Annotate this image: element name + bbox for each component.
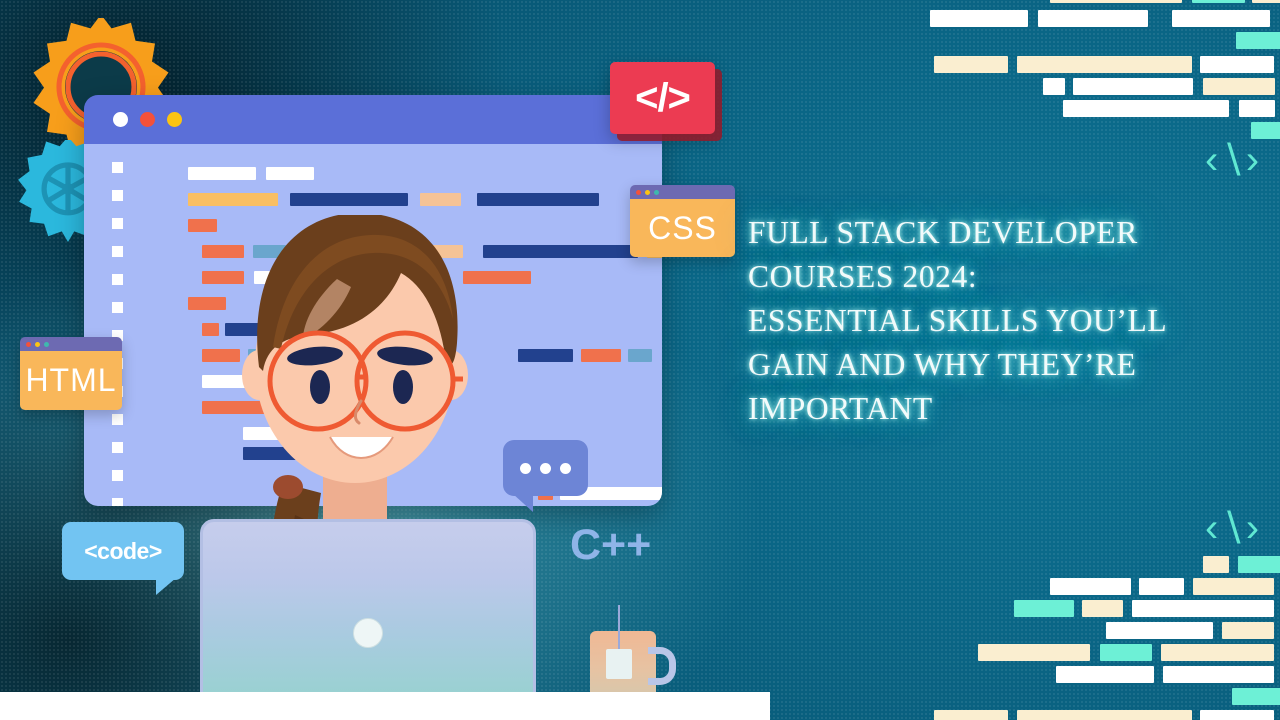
angle-bracket-icon-top: ‹∖› (1205, 140, 1260, 180)
page-title-line-3: Essential Skills You’ll (748, 299, 1264, 343)
badge-html[interactable]: HTML (20, 337, 122, 410)
decorative-code-bar (1063, 100, 1229, 117)
badge-css[interactable]: CSS (630, 185, 735, 257)
line-number-gutter (112, 162, 123, 506)
laptop-logo-icon (353, 618, 383, 648)
decorative-code-bar (1017, 710, 1192, 720)
line-number-mark (112, 274, 123, 285)
decorative-code-bar (1252, 0, 1280, 3)
decorative-code-bar (978, 644, 1090, 661)
laptop-lid (200, 519, 536, 707)
decorative-code-bar (1203, 556, 1229, 573)
typing-dot-3 (560, 463, 571, 474)
window-dot-red[interactable] (140, 112, 155, 127)
line-number-mark (112, 302, 123, 313)
badge-css-titlebar (630, 185, 735, 199)
line-number-mark (112, 442, 123, 453)
line-number-mark (112, 190, 123, 201)
decorative-code-bar (1056, 666, 1154, 683)
decorative-code-bar (1239, 100, 1275, 117)
line-number-mark (112, 218, 123, 229)
page-title-line-4: Gain and Why They’re (748, 343, 1264, 387)
decorative-code-bar (1100, 644, 1152, 661)
desk-surface (0, 692, 770, 720)
tea-bag-tag-icon (618, 605, 620, 651)
decorative-code-bar (1050, 578, 1131, 595)
line-number-mark (112, 498, 123, 506)
decorative-code-bar (1200, 710, 1274, 720)
code-line-segment (188, 167, 256, 180)
decorative-code-bar (1200, 56, 1274, 73)
badge-code-tag[interactable]: </> (610, 62, 715, 134)
code-line-segment (581, 349, 621, 362)
page-title-line-5: Important (748, 387, 1264, 431)
speech-bubble-code[interactable]: <code> (62, 522, 184, 580)
typing-dot-1 (520, 463, 531, 474)
line-number-mark (112, 246, 123, 257)
poster-canvas: ‹∖› ‹∖› (0, 0, 1280, 720)
decorative-code-bar (1192, 0, 1245, 3)
decorative-code-bar (1014, 600, 1074, 617)
decorative-code-bar (934, 710, 1008, 720)
badge-html-label: HTML (20, 351, 122, 410)
line-number-mark (112, 414, 123, 425)
decorative-code-bar (1232, 688, 1280, 705)
decorative-code-bar (1203, 78, 1275, 95)
decorative-code-bar (1172, 10, 1270, 27)
window-dot-yellow[interactable] (167, 112, 182, 127)
decorative-code-bar (1222, 622, 1274, 639)
page-title-line-2: Courses 2024: (748, 255, 1264, 299)
decorative-code-bar (1163, 666, 1274, 683)
window-dot-white[interactable] (113, 112, 128, 127)
code-line-segment (477, 193, 599, 206)
badge-html-titlebar (20, 337, 122, 351)
badge-css-label: CSS (630, 199, 735, 257)
decorative-code-bar (1139, 578, 1184, 595)
decorative-code-bar (1038, 10, 1148, 27)
page-title-line-1: Full Stack Developer (748, 211, 1264, 255)
code-line-segment (266, 167, 314, 180)
code-line-segment (628, 349, 652, 362)
cup-handle (648, 647, 676, 685)
page-title: Full Stack DeveloperCourses 2024:Essenti… (748, 211, 1264, 431)
decorative-code-bar (934, 56, 1008, 73)
decorative-code-bar (1161, 644, 1274, 661)
decorative-code-bar (1073, 78, 1193, 95)
line-number-mark (112, 470, 123, 481)
code-line-segment (420, 193, 461, 206)
decorative-code-bar (1132, 600, 1274, 617)
decorative-code-bar (1043, 78, 1065, 95)
code-line-segment (290, 193, 408, 206)
decorative-code-bar (1236, 32, 1280, 49)
decorative-code-bar (1251, 122, 1280, 139)
decorative-code-bar (1193, 578, 1274, 595)
label-cpp: C++ (570, 521, 651, 570)
window-title-bar (84, 95, 662, 144)
decorative-code-bars-bottom-right (920, 528, 1280, 720)
decorative-code-bar (1017, 56, 1192, 73)
decorative-code-bar (1082, 600, 1123, 617)
code-line-segment (188, 193, 278, 206)
decorative-code-bar (1106, 622, 1213, 639)
typing-dot-2 (540, 463, 551, 474)
decorative-code-bar (1238, 556, 1280, 573)
line-number-mark (112, 162, 123, 173)
decorative-code-bar (1050, 0, 1182, 3)
typing-indicator-bubble[interactable] (503, 440, 588, 496)
decorative-code-bar (930, 10, 1028, 27)
